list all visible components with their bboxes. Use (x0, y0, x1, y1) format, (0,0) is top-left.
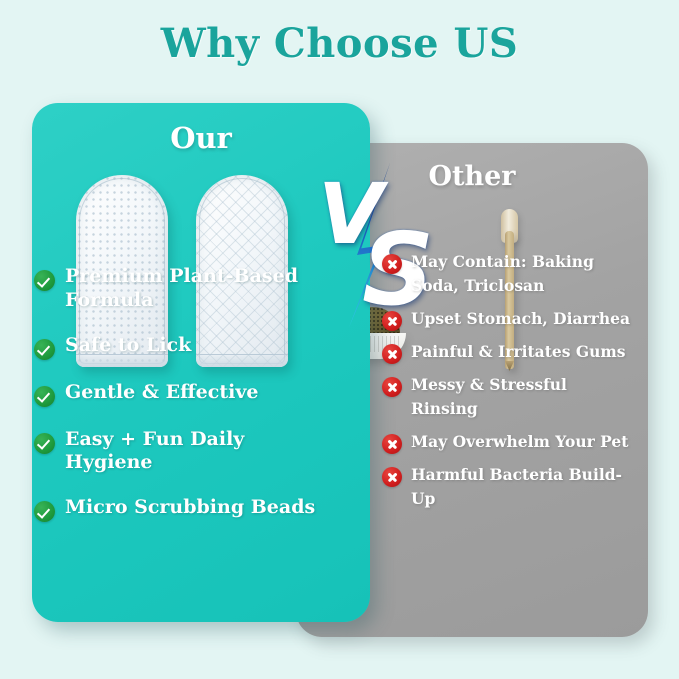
list-item-label: Messy & Stressful Rinsing (411, 373, 634, 421)
list-item: Harmful Bacteria Build-Up (382, 463, 634, 511)
list-item: May Contain: Baking Soda, Triclosan (382, 250, 634, 298)
list-item-label: Gentle & Effective (65, 381, 258, 405)
list-item-label: Easy + Fun Daily Hygiene (65, 428, 334, 476)
x-circle-icon (382, 467, 402, 487)
x-circle-icon (382, 254, 402, 274)
x-circle-icon (382, 377, 402, 397)
check-circle-icon (34, 433, 55, 454)
list-item: Premium Plant-Based Formula (34, 265, 334, 313)
page-title: Why Choose US (0, 20, 679, 67)
list-item-label: May Contain: Baking Soda, Triclosan (411, 250, 634, 298)
list-item-label: Premium Plant-Based Formula (65, 265, 334, 313)
list-item: Easy + Fun Daily Hygiene (34, 428, 334, 476)
list-item: Micro Scrubbing Beads (34, 496, 334, 522)
list-item-label: Upset Stomach, Diarrhea (411, 307, 630, 331)
list-item: Messy & Stressful Rinsing (382, 373, 634, 421)
check-circle-icon (34, 501, 55, 522)
list-item-label: May Overwhelm Your Pet (411, 430, 628, 454)
other-drawbacks-list: May Contain: Baking Soda, Triclosan Upse… (382, 250, 634, 520)
x-circle-icon (382, 311, 402, 331)
our-panel-title: Our (32, 121, 370, 155)
list-item-label: Harmful Bacteria Build-Up (411, 463, 634, 511)
check-circle-icon (34, 386, 55, 407)
check-circle-icon (34, 339, 55, 360)
our-benefits-list: Premium Plant-Based Formula Safe to Lick… (34, 265, 334, 543)
list-item-label: Safe to Lick (65, 334, 191, 358)
check-circle-icon (34, 270, 55, 291)
list-item-label: Micro Scrubbing Beads (65, 496, 315, 520)
list-item-label: Painful & Irritates Gums (411, 340, 626, 364)
infographic-canvas: Why Choose US Other Our (0, 0, 679, 679)
list-item: Gentle & Effective (34, 381, 334, 407)
list-item: Safe to Lick (34, 334, 334, 360)
list-item: Painful & Irritates Gums (382, 340, 634, 364)
list-item: Upset Stomach, Diarrhea (382, 307, 634, 331)
list-item: May Overwhelm Your Pet (382, 430, 634, 454)
x-circle-icon (382, 344, 402, 364)
x-circle-icon (382, 434, 402, 454)
